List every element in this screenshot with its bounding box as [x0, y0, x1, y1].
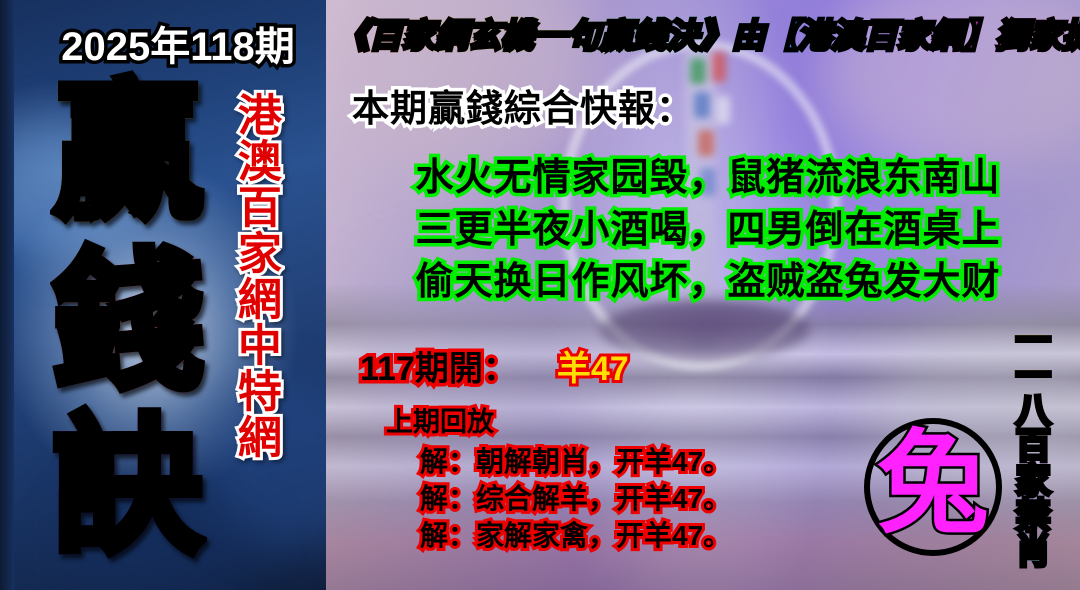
- big-char-ying: 贏: [53, 78, 203, 228]
- header-banner: 《百家網玄機一句贏錢決》由【港澳百家網】獨家提供: [336, 9, 1076, 57]
- confetti-4: [716, 96, 730, 124]
- page-title-date: 2025年118期: [28, 14, 328, 72]
- draw-result-value: 羊47: [557, 341, 629, 390]
- left-panel-edge: [0, 0, 14, 590]
- replay-item-2: 解：综合解羊，开羊47。: [420, 481, 731, 518]
- replay-block: 上期回放 解：朝解朝肖，开羊47。 解：综合解羊，开羊47。 解：家解家禽，开羊…: [386, 400, 731, 555]
- big-char-jue: 訣: [53, 412, 203, 562]
- poem-line-3: 偷天换日作风坏，盗贼盗兔发大财: [336, 256, 1080, 308]
- confetti-3: [694, 92, 710, 118]
- vertical-brand-slogan: 港澳百家網中特網: [232, 92, 277, 460]
- main-headline: 本期贏錢綜合快報：: [352, 78, 694, 132]
- replay-item-1: 解：朝解朝肖，开羊47。: [420, 444, 731, 481]
- poem-block: 水火无情家园毁，鼠猪流浪东南山 三更半夜小酒喝，四男倒在酒桌上 偷天换日作风坏，…: [336, 152, 1080, 308]
- poem-line-2: 三更半夜小酒喝，四男倒在酒桌上: [336, 204, 1080, 256]
- zodiac-badge: 兔: [864, 418, 1002, 556]
- right-vertical-text: 一一八百家禁肖: [1010, 322, 1048, 567]
- wheel-base: [600, 300, 810, 360]
- draw-result-row: 117期開： 羊47: [360, 341, 629, 390]
- zodiac-char-rabbit: 兔: [877, 428, 989, 540]
- poster-root: SIX 六合彩 2025年118期 贏 錢 訣 港澳百家網中特網 《百家網玄機一…: [0, 0, 1080, 590]
- draw-result-label: 117期開：: [360, 341, 517, 390]
- big-char-qian: 錢: [53, 248, 203, 398]
- poem-line-1: 水火无情家园毁，鼠猪流浪东南山: [336, 152, 1080, 204]
- replay-title: 上期回放: [386, 400, 731, 439]
- replay-item-3: 解：家解家禽，开羊47。: [420, 518, 731, 555]
